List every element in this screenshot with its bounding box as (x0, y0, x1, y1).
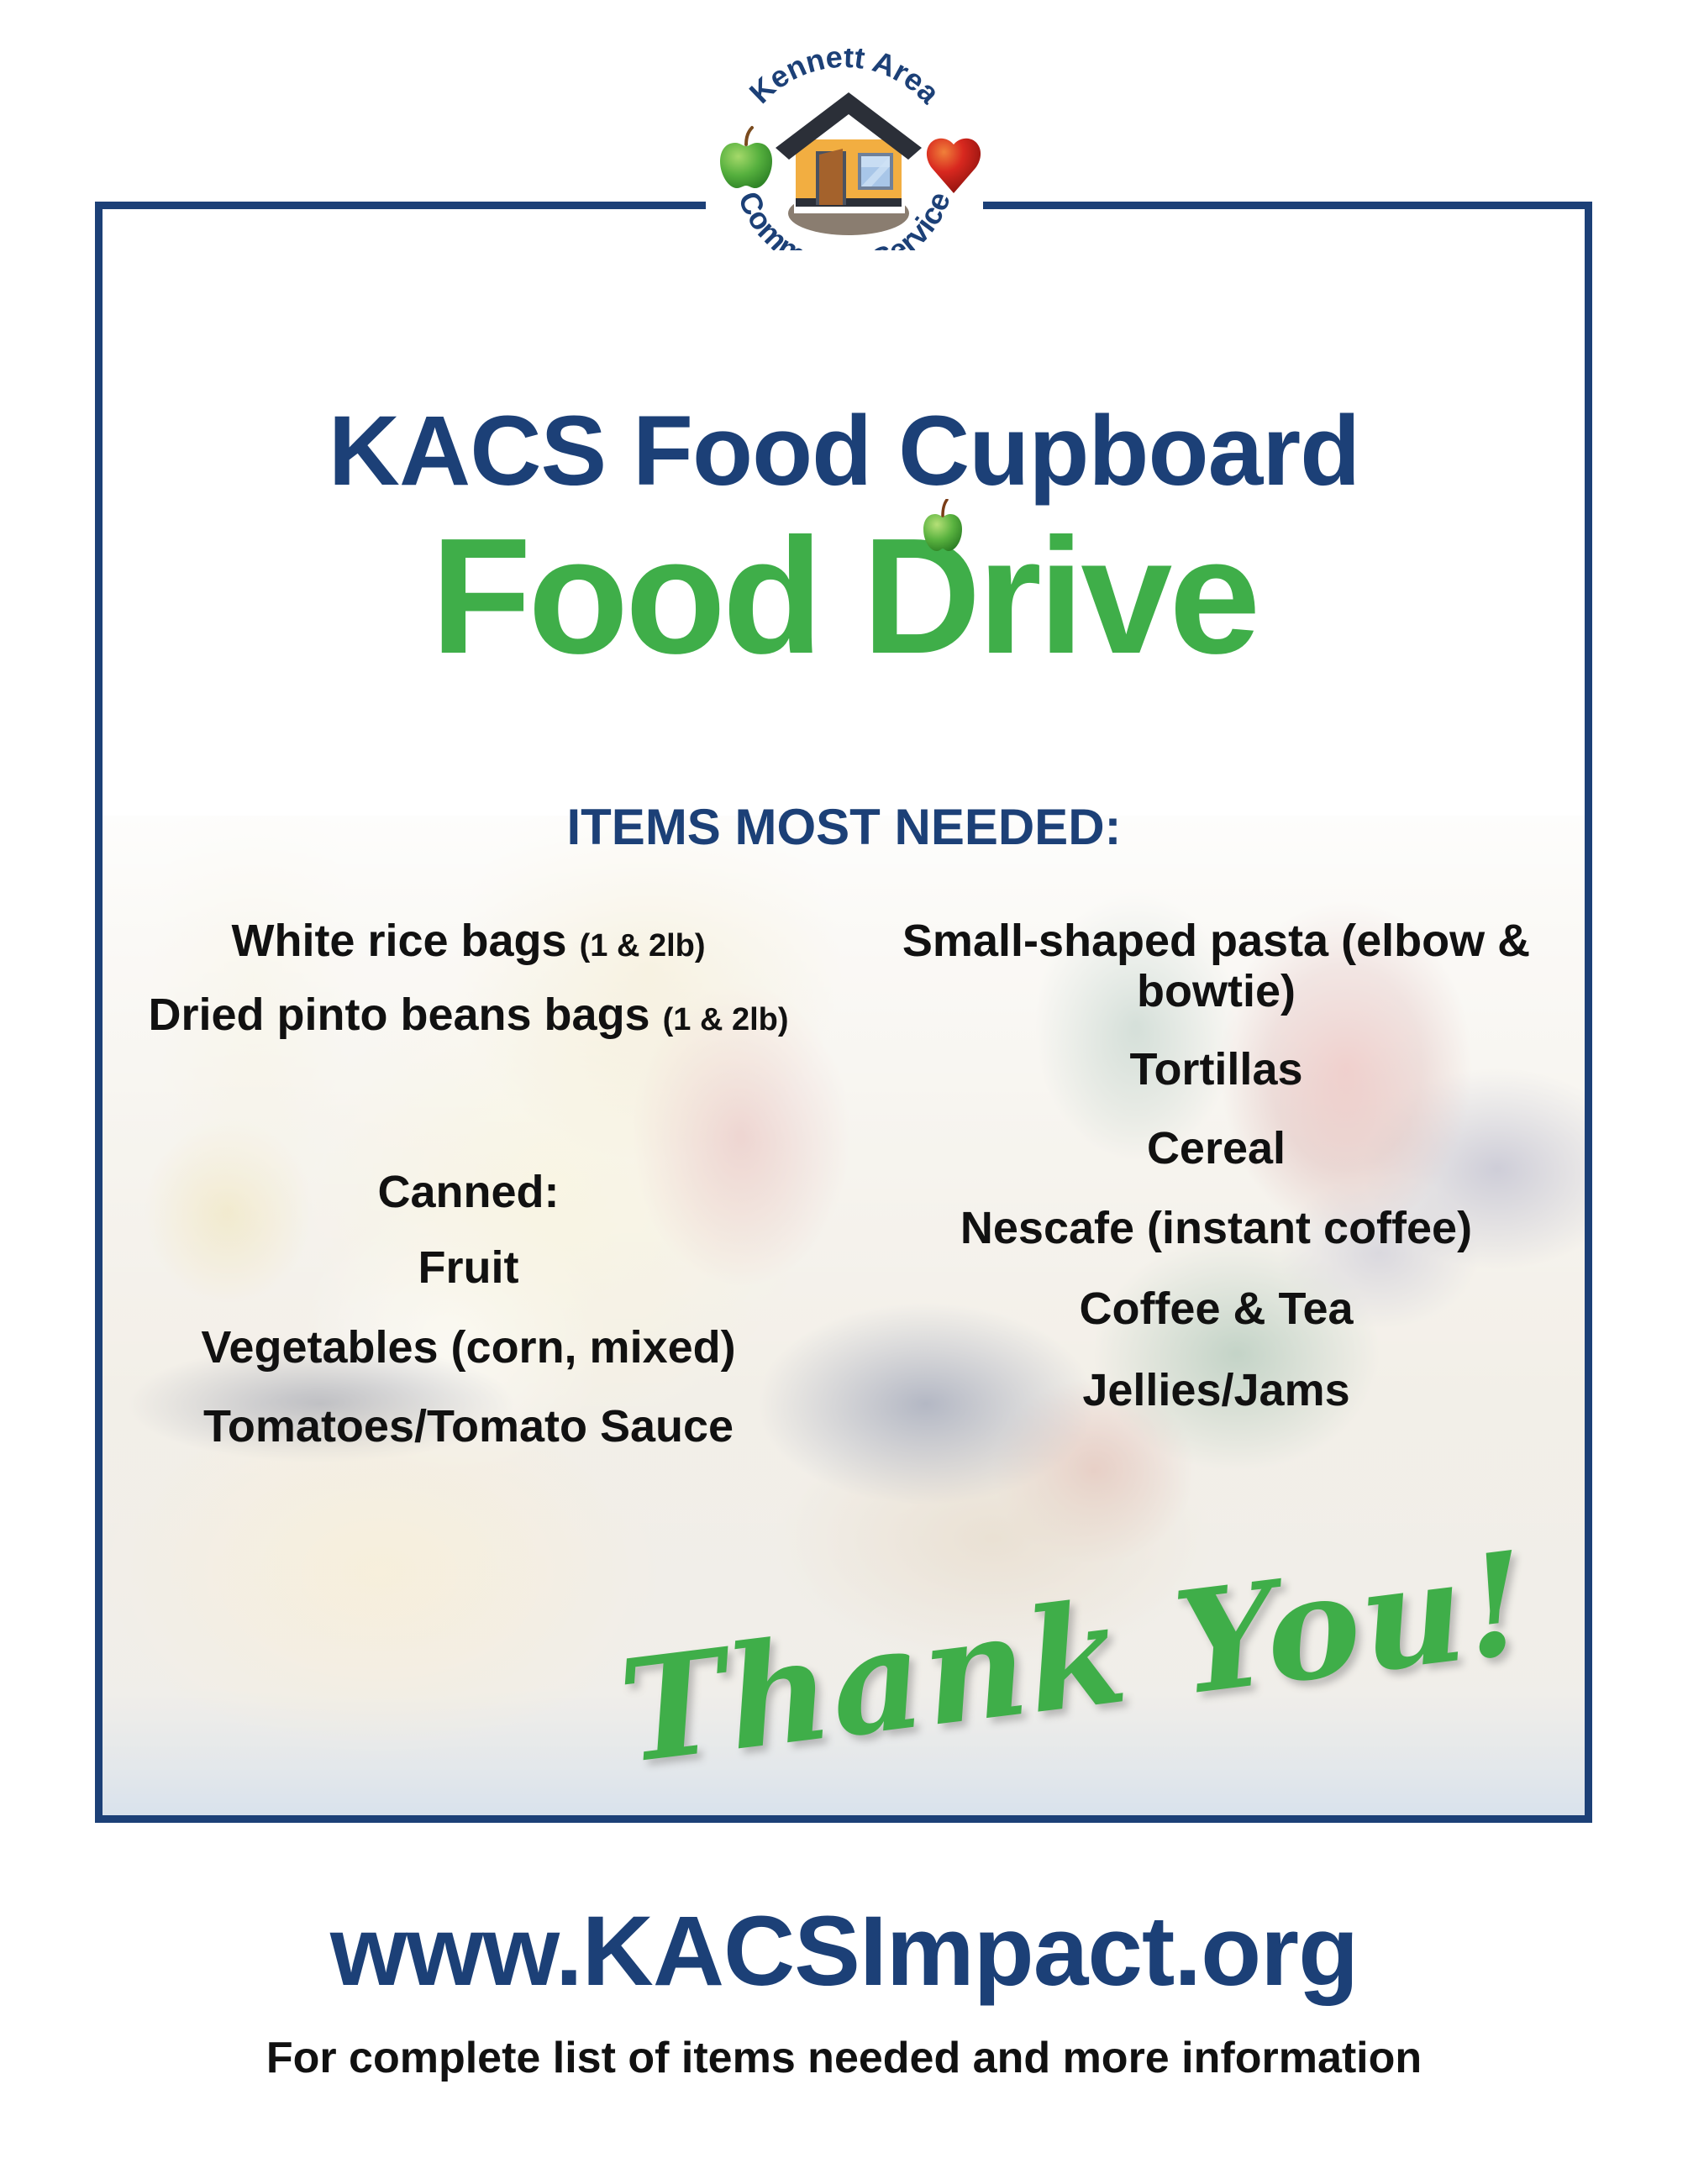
item-canned-fruit: Fruit (109, 1242, 828, 1293)
apple-icon (921, 499, 965, 551)
item-jellies-jams: Jellies/Jams (853, 1365, 1580, 1415)
item-small-shaped-pasta: Small-shaped pasta (elbow & bowtie) (853, 916, 1580, 1017)
item-nescafe: Nescafe (instant coffee) (853, 1203, 1580, 1253)
items-column-left: White rice bags (1 & 2lb) Dried pinto be… (109, 916, 844, 1452)
item-label: Dried pinto beans bags (149, 990, 663, 1040)
page-title-line2-text: Food Drive (431, 504, 1258, 688)
item-coffee-and-tea: Coffee & Tea (853, 1284, 1580, 1334)
footer-note: For complete list of items needed and mo… (0, 2033, 1688, 2083)
logo: Kennett Area Community Service (676, 49, 1012, 250)
page-title-line2-wrapper: Food Drive (0, 514, 1688, 690)
item-canned-heading: Canned: (109, 1167, 828, 1217)
item-label: White rice bags (231, 916, 579, 966)
items-column-right: Small-shaped pasta (elbow & bowtie) Tort… (844, 916, 1580, 1415)
item-tortillas: Tortillas (853, 1044, 1580, 1095)
item-cereal: Cereal (853, 1123, 1580, 1173)
page-title-line1: KACS Food Cupboard (0, 402, 1688, 501)
item-dried-pinto-beans: Dried pinto beans bags (1 & 2lb) (109, 990, 828, 1040)
heart-icon (926, 139, 980, 193)
item-quantity: (1 & 2lb) (663, 1002, 789, 1037)
apple-icon (720, 128, 772, 188)
house-icon (776, 92, 922, 207)
item-canned-tomatoes: Tomatoes/Tomato Sauce (109, 1401, 828, 1452)
items-columns: White rice bags (1 & 2lb) Dried pinto be… (109, 916, 1580, 1452)
item-white-rice-bags: White rice bags (1 & 2lb) (109, 916, 828, 966)
website-url[interactable]: www.KACSImpact.org (0, 1894, 1688, 2008)
page-title-line2: Food Drive (431, 514, 1258, 679)
item-quantity: (1 & 2lb) (580, 928, 706, 963)
food-drive-flyer: Kennett Area Community Service (0, 0, 1688, 2184)
thank-you-script: Thank You! (613, 1522, 1615, 1783)
logo-svg: Kennett Area Community Service (676, 49, 1012, 250)
items-most-needed-heading: ITEMS MOST NEEDED: (0, 798, 1688, 856)
item-canned-vegetables: Vegetables (corn, mixed) (109, 1322, 828, 1373)
